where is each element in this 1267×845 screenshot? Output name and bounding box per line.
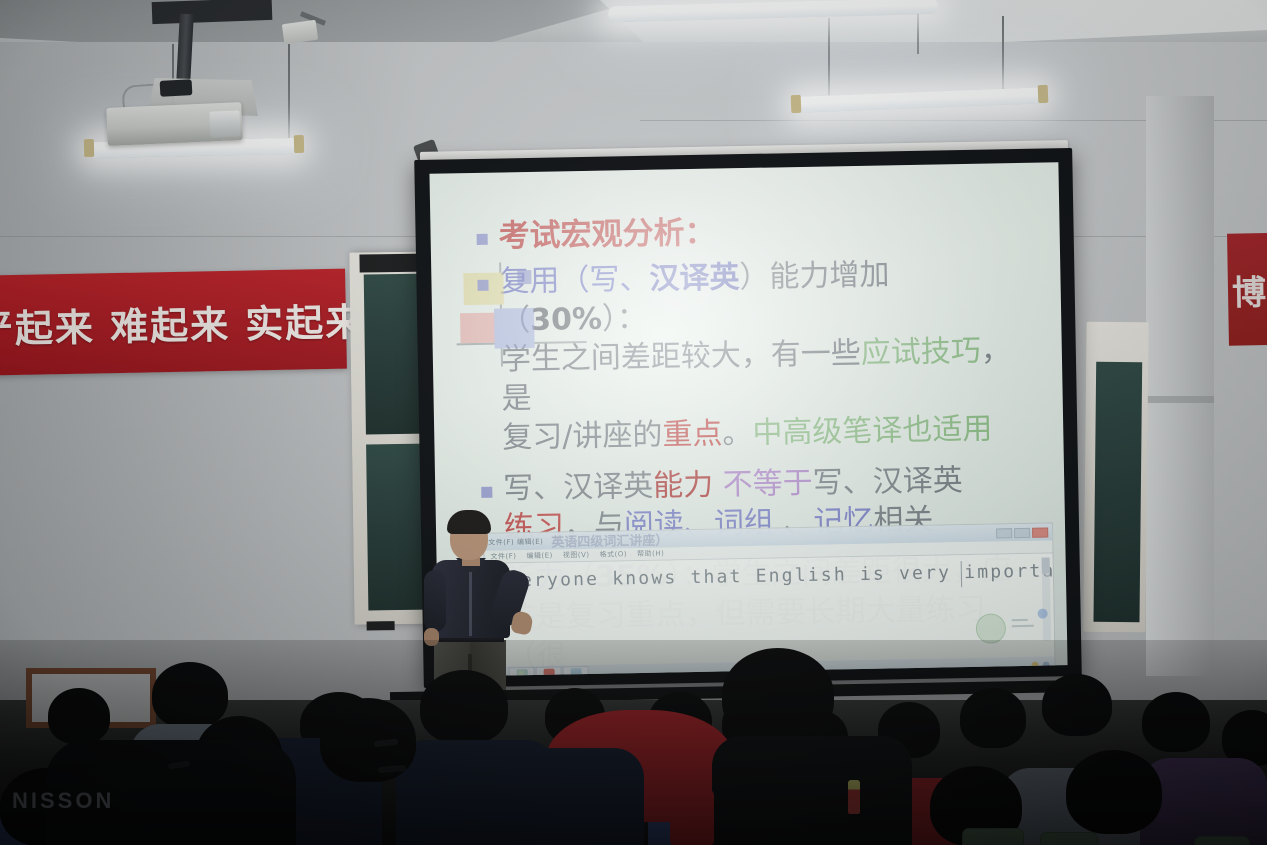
scrollbar-thumb[interactable]: [1042, 557, 1050, 573]
tube-end-cap: [84, 139, 94, 157]
blackboard-right: [1083, 322, 1148, 633]
tube-end-cap: [294, 135, 304, 153]
jacket-print-text: NISSON: [12, 788, 114, 814]
text-run: 应试技巧: [861, 334, 982, 371]
audience-body: [494, 748, 644, 845]
menu-item-view[interactable]: 视图(V): [563, 550, 590, 560]
window-controls[interactable]: [996, 527, 1048, 538]
chalk-tray: [367, 621, 395, 630]
audience-head: [1066, 750, 1162, 834]
water-bottle: [848, 780, 860, 814]
audience-head: [1042, 674, 1112, 736]
presenter-left-arm: [424, 570, 446, 632]
light-hanger-rod: [288, 44, 290, 142]
menu-item-format[interactable]: 格式(O): [600, 549, 628, 560]
audience: [0, 640, 1267, 845]
text-run: 不等于: [713, 466, 813, 503]
slide-title-row: 考试宏观分析：: [476, 207, 1030, 257]
wall-banner-left: 严起来 难起来 实起来: [0, 269, 347, 376]
text-run: 能力: [653, 468, 714, 504]
wall-banner-right: 博: [1227, 232, 1267, 345]
audience-head: [960, 688, 1026, 748]
text-run: 重点: [662, 417, 723, 453]
tube-end-cap: [791, 95, 802, 113]
watermark-lines-icon: [1012, 619, 1040, 640]
audience-head: [152, 662, 228, 728]
close-button[interactable]: [1032, 527, 1048, 537]
maximize-button[interactable]: [1014, 527, 1030, 537]
audience-body: [712, 736, 912, 845]
presenter-hair: [447, 510, 491, 534]
blackboard-panel: [1093, 362, 1142, 622]
light-hanger-rod: [1002, 16, 1004, 96]
red-hoodie-drape: [670, 788, 714, 845]
wall-banner-right-text: 博: [1232, 265, 1267, 315]
slide-bullet-1-text: 复用（写、汉译英）能力增加（30%）： 学生之间差距较大，有一些应试技巧，是 复…: [499, 253, 1033, 458]
presenter-shirt-placket: [469, 564, 472, 636]
bullet-square-icon: [477, 234, 488, 245]
projector-ceiling-mount: [152, 0, 273, 24]
auditorium-chair: [962, 828, 1024, 845]
text-run: ）：: [602, 301, 648, 337]
light-hanger-rod: [828, 18, 830, 96]
slide-title: 考试宏观分析：: [498, 213, 716, 257]
auditorium-chair: [1194, 836, 1250, 845]
wall-banner-left-text: 严起来 难起来 实起来: [0, 291, 366, 353]
slide-decoration-motif: [459, 268, 547, 362]
structural-column: [1146, 96, 1214, 676]
slide-line: 学生之间差距较大，有一些应试技巧，是: [501, 331, 1033, 419]
text-run: 中高级笔译也适用: [752, 412, 993, 451]
audience-head: [48, 688, 110, 744]
slide-line: 复用（写、汉译英）能力增加（30%）：: [499, 253, 1031, 341]
lecture-hall-photo: 严起来 难起来 实起来 博: [0, 0, 1267, 845]
slide-bullet-1: 复用（写、汉译英）能力增加（30%）： 学生之间差距较大，有一些应试技巧，是 复…: [477, 253, 1033, 458]
tube-end-cap: [1038, 85, 1049, 103]
window-document-name: 英语四级词汇讲座）: [551, 529, 668, 550]
column-band: [1146, 396, 1214, 403]
text-run: 复习/讲座的: [502, 418, 663, 456]
auditorium-chair: [1040, 832, 1098, 845]
menu-item-help[interactable]: 帮助(H): [637, 549, 664, 559]
text-run: 写、汉译英: [503, 469, 654, 507]
audience-head: [1142, 692, 1210, 752]
text-run: 汉译英: [649, 260, 740, 297]
deco-square-blue-small: [517, 270, 531, 284]
text-run: 。: [722, 416, 753, 452]
audience-head: [420, 670, 508, 744]
projector-lens: [209, 110, 240, 137]
projector-mount-knob: [160, 79, 193, 97]
audience-head: [722, 648, 834, 742]
slide-line: 复习/讲座的重点。中高级笔译也适用: [502, 409, 1034, 458]
bullet-square-icon: [477, 280, 488, 291]
text-run: 写、汉译英: [812, 463, 963, 501]
presenter-right-hand: [510, 610, 534, 636]
deco-square-blue: [494, 308, 535, 349]
light-hanger-rod: [917, 14, 919, 54]
minimize-button[interactable]: [996, 528, 1012, 538]
bullet-square-icon: [481, 487, 492, 498]
